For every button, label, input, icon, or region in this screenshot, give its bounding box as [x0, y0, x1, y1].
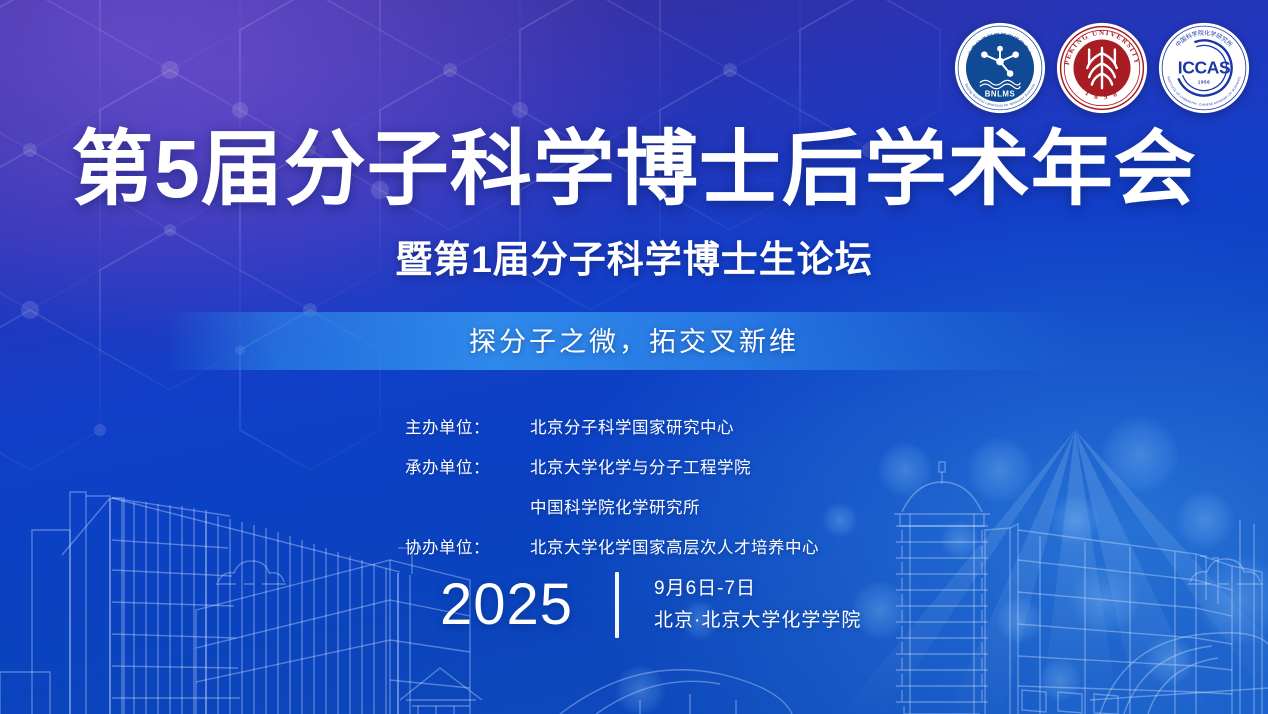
event-when-where: 9月6日-7日 北京·北京大学化学学院 — [654, 573, 861, 637]
organizer-value: 北京大学化学与分子工程学院 — [530, 448, 751, 488]
event-location: 北京·北京大学化学学院 — [654, 605, 861, 637]
organizer-value: 中国科学院化学研究所 — [530, 488, 700, 528]
event-footer: 2025 9月6日-7日 北京·北京大学化学学院 — [440, 572, 861, 638]
bnlms-logo: BNLMS 北京分子科学国家研究中心 Beijing National Labo… — [954, 22, 1046, 114]
svg-text:BNLMS: BNLMS — [985, 90, 1016, 99]
organizer-list: 主办单位： 北京分子科学国家研究中心 承办单位： 北京大学化学与分子工程学院 中… — [405, 408, 819, 568]
iccas-logo: ICCAS 1956 中国科学院化学研究所 INSTITUTE OF CHEMI… — [1158, 22, 1250, 114]
page-title: 第5届分子科学博士后学术年会 — [0, 128, 1268, 212]
svg-text:1956: 1956 — [1198, 80, 1210, 85]
peking-university-logo: PEKING UNIVERSITY 1 8 9 8 — [1056, 22, 1148, 114]
vertical-divider — [615, 572, 619, 638]
organizer-row: 协办单位： 北京大学化学国家高层次人才培养中心 — [405, 528, 819, 568]
event-year: 2025 — [440, 572, 573, 638]
slogan-text: 探分子之微，拓交叉新维 — [0, 322, 1268, 362]
page-subtitle: 暨第1届分子科学博士生论坛 — [0, 238, 1268, 282]
conference-poster: BNLMS 北京分子科学国家研究中心 Beijing National Labo… — [0, 0, 1268, 714]
organizer-label: 主办单位： — [405, 408, 530, 448]
organizer-value: 北京大学化学国家高层次人才培养中心 — [530, 528, 819, 568]
organizer-row: 中国科学院化学研究所 — [405, 488, 819, 528]
organizer-row: 主办单位： 北京分子科学国家研究中心 — [405, 408, 819, 448]
logo-row: BNLMS 北京分子科学国家研究中心 Beijing National Labo… — [954, 22, 1250, 114]
organizer-value: 北京分子科学国家研究中心 — [530, 408, 734, 448]
organizer-label: 协办单位： — [405, 528, 530, 568]
event-date: 9月6日-7日 — [654, 573, 861, 605]
svg-text:ICCAS: ICCAS — [1178, 58, 1231, 78]
organizer-label: 承办单位： — [405, 448, 530, 488]
organizer-row: 承办单位： 北京大学化学与分子工程学院 — [405, 448, 819, 488]
